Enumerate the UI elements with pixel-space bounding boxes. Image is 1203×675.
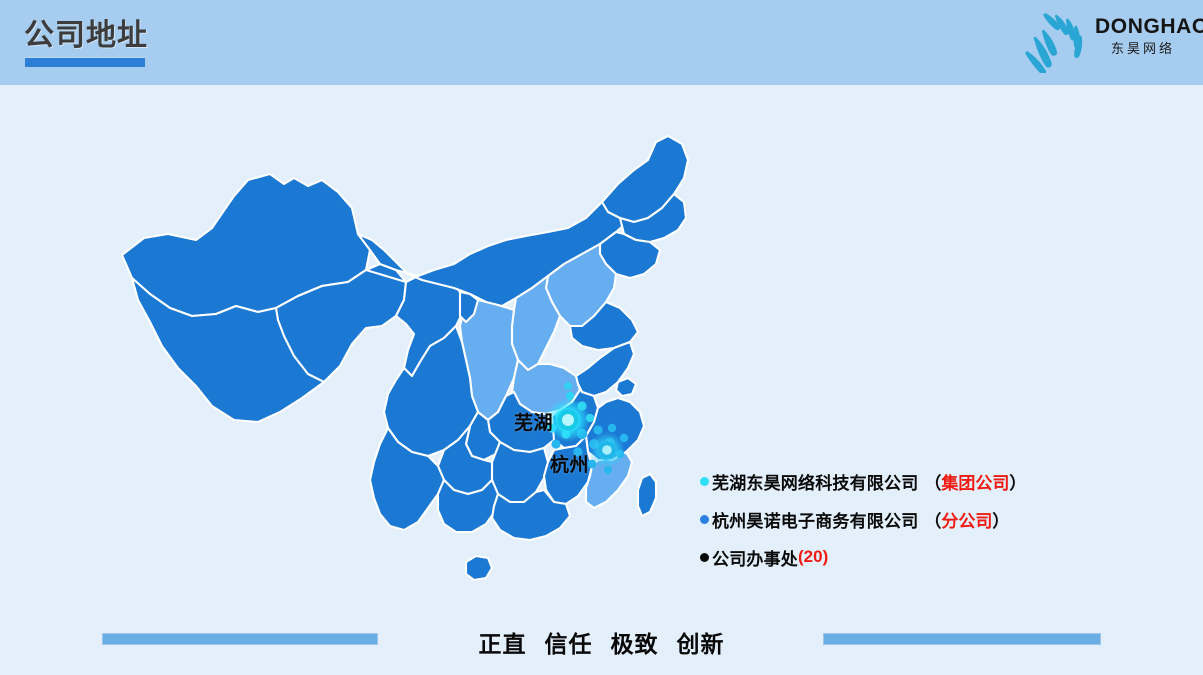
china-map-svg <box>108 130 708 610</box>
province-hainan <box>466 556 492 580</box>
legend-label-group-company: 芜湖东昊网络科技有限公司 <box>712 469 918 494</box>
legend-office-count: (20) <box>798 547 828 567</box>
map-legend: 芜湖东昊网络科技有限公司 （集团公司） 杭州昊诺电子商务有限公司 （分公司） 公… <box>700 462 1180 576</box>
legend-label-branch-company: 杭州昊诺电子商务有限公司 <box>712 507 918 532</box>
legend-label-offices: 公司办事处 <box>712 545 798 570</box>
slogan-word-2: 信任 <box>545 631 593 657</box>
legend-dot-branch-company <box>700 515 709 524</box>
company-logo: DONGHAO 东昊网络 <box>1013 5 1193 77</box>
slide-company-address: 公司地址 DONGHAO <box>0 0 1203 675</box>
legend-emphasis-branch-company: 分公司 <box>941 507 992 532</box>
title-underline-accent <box>25 57 145 67</box>
slide-header: 公司地址 DONGHAO <box>0 0 1203 85</box>
slogan-word-1: 正直 <box>479 631 527 657</box>
city-label-wuhu: 芜湖 <box>514 408 553 435</box>
province-taiwan <box>638 474 656 516</box>
hangzhou-branch-marker <box>589 432 625 468</box>
donghao-wing-logo-icon <box>1021 7 1095 73</box>
page-title: 公司地址 <box>24 19 148 53</box>
legend-paren-open-0: （ <box>924 469 941 494</box>
slogan-word-3: 极致 <box>611 631 659 657</box>
legend-paren-open-1: （ <box>924 507 941 532</box>
legend-item-offices: 公司办事处(20) <box>700 538 1180 576</box>
logo-name-en: DONGHAO <box>1095 15 1191 39</box>
legend-paren-close-0: ） <box>1009 469 1026 494</box>
legend-paren-close-1: ） <box>992 507 1009 532</box>
legend-dot-group-company <box>700 477 709 486</box>
china-map: 芜湖 杭州 <box>108 130 708 610</box>
logo-name-cn: 东昊网络 <box>1095 40 1191 57</box>
legend-dot-offices <box>700 553 709 562</box>
province-shanghai <box>616 378 636 396</box>
legend-item-group-company: 芜湖东昊网络科技有限公司 （集团公司） <box>700 462 1180 500</box>
legend-emphasis-group-company: 集团公司 <box>941 469 1009 494</box>
logo-wordmark: DONGHAO 东昊网络 <box>1095 15 1191 57</box>
legend-item-branch-company: 杭州昊诺电子商务有限公司 （分公司） <box>700 500 1180 538</box>
footer-slogan: 正直信任极致创新 <box>0 625 1203 659</box>
slogan-word-4: 创新 <box>677 631 725 657</box>
city-label-hangzhou: 杭州 <box>550 450 589 477</box>
